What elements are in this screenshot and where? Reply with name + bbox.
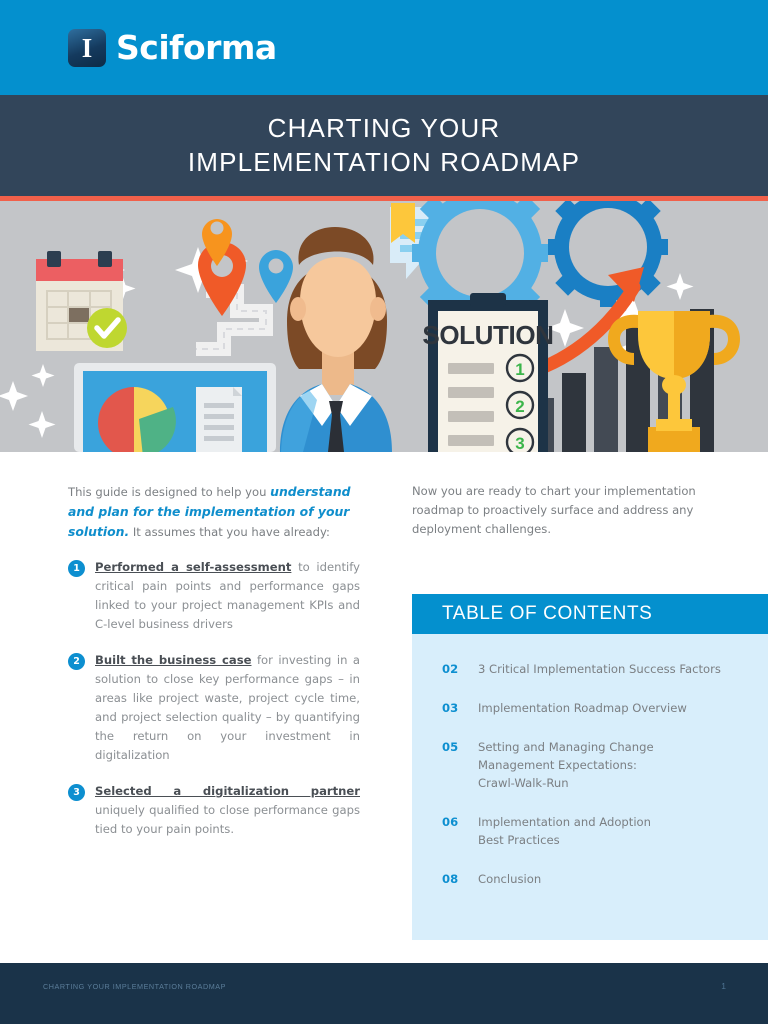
document-page: I Sciforma CHARTING YOUR IMPLEMENTATION … [0, 0, 768, 1024]
svg-text:1: 1 [515, 360, 524, 379]
toc-entry-label: Setting and Managing Change Management E… [478, 738, 654, 792]
toc-entry-label: Conclusion [478, 870, 541, 888]
summary-paragraph: Now you are ready to chart your implemen… [412, 482, 712, 539]
toc-entry[interactable]: 05 Setting and Managing Change Managemen… [442, 738, 744, 792]
page-footer [0, 963, 768, 1024]
toc-entry-label: Implementation and Adoption Best Practic… [478, 813, 651, 849]
svg-text:SOLUTION: SOLUTION [422, 320, 553, 350]
toc-page-number: 08 [442, 870, 460, 888]
intro-column: This guide is designed to help you under… [68, 482, 360, 856]
toc-entry[interactable]: 02 3 Critical Implementation Success Fac… [442, 660, 744, 678]
list-item: 2 Built the business case for investing … [68, 651, 360, 765]
intro-lead-part2: It assumes that you have already: [129, 525, 330, 539]
toc-entries: 02 3 Critical Implementation Success Fac… [412, 634, 768, 940]
toc-page-number: 02 [442, 660, 460, 678]
svg-text:2: 2 [515, 397, 524, 416]
list-item-number: 1 [68, 560, 85, 577]
list-item-text: Performed a self-assessment to identify … [95, 558, 360, 634]
list-item-text: Selected a digitalization partner unique… [95, 782, 360, 839]
sciforma-logo: I Sciforma [68, 28, 277, 67]
list-item-heading: Performed a self-assessment [95, 560, 291, 574]
list-item-number: 3 [68, 784, 85, 801]
list-item: 3 Selected a digitalization partner uniq… [68, 782, 360, 839]
list-item-heading: Selected a digitalization partner [95, 784, 360, 798]
toc-page-number: 05 [442, 738, 460, 792]
toc-entry-label: Implementation Roadmap Overview [478, 699, 687, 717]
toc-entry[interactable]: 03 Implementation Roadmap Overview [442, 699, 744, 717]
brand-header: I Sciforma [0, 0, 768, 95]
footer-page-number: 1 [721, 981, 726, 991]
page-title-line2: IMPLEMENTATION ROADMAP [188, 146, 580, 180]
logo-wordmark: Sciforma [116, 28, 277, 67]
footer-title: CHARTING YOUR IMPLEMENTATION ROADMAP [43, 982, 226, 991]
document-title-band: CHARTING YOUR IMPLEMENTATION ROADMAP [0, 95, 768, 196]
intro-paragraph: This guide is designed to help you under… [68, 482, 360, 542]
list-item: 1 Performed a self-assessment to identif… [68, 558, 360, 634]
toc-entry-label: 3 Critical Implementation Success Factor… [478, 660, 721, 678]
prerequisite-list: 1 Performed a self-assessment to identif… [68, 558, 360, 839]
list-item-body: uniquely qualified to close performance … [95, 803, 360, 836]
toc-page-number: 03 [442, 699, 460, 717]
toc-entry[interactable]: 06 Implementation and Adoption Best Prac… [442, 813, 744, 849]
list-item-number: 2 [68, 653, 85, 670]
svg-text:3: 3 [515, 434, 524, 452]
document-icon [196, 387, 242, 452]
logo-mark-icon: I [68, 29, 106, 67]
toc-page-number: 06 [442, 813, 460, 849]
gear-man-icon [548, 201, 668, 307]
clipboard-icon: SOLUTION 1 2 3 [422, 293, 553, 452]
intro-lead-part1: This guide is designed to help you [68, 485, 270, 499]
table-of-contents: TABLE OF CONTENTS 02 3 Critical Implemen… [412, 594, 768, 940]
page-title-line1: CHARTING YOUR [268, 112, 501, 146]
toc-entry[interactable]: 08 Conclusion [442, 870, 744, 888]
calendar-icon [36, 251, 127, 351]
list-item-body: for investing in a solution to close key… [95, 653, 360, 762]
summary-column: Now you are ready to chart your implemen… [412, 482, 712, 539]
monitor-chart-icon [74, 363, 276, 452]
list-item-text: Built the business case for investing in… [95, 651, 360, 765]
hero-illustration: SOLUTION 1 2 3 [0, 201, 768, 452]
list-item-heading: Built the business case [95, 653, 251, 667]
toc-heading: TABLE OF CONTENTS [412, 594, 768, 634]
